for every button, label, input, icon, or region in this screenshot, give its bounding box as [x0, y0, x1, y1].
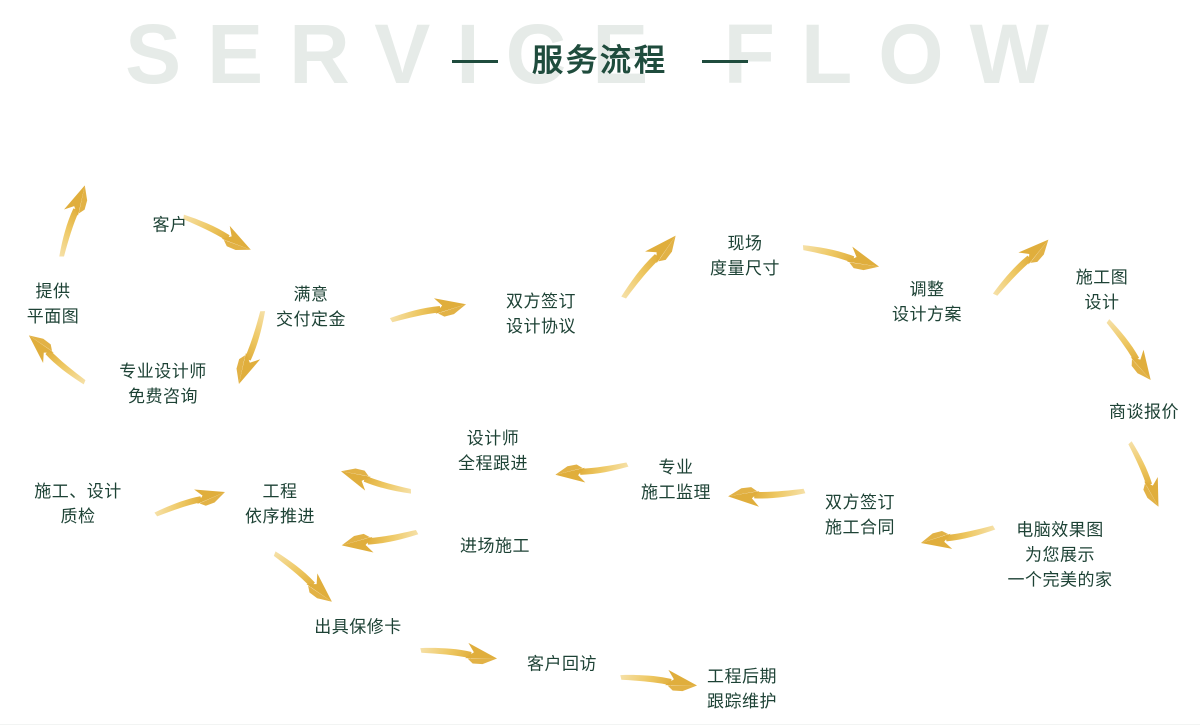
flow-node-line: 专业设计师	[119, 360, 207, 385]
flow-arrow-a16	[153, 480, 227, 527]
flow-node-n12: 专业施工监理	[641, 456, 711, 506]
flow-node-line: 设计方案	[892, 303, 962, 328]
flow-node-n15: 工程依序推进	[245, 480, 315, 530]
flow-node-n19: 工程后期跟踪维护	[707, 665, 777, 715]
flow-node-n02: 满意交付定金	[276, 283, 346, 333]
flow-node-line: 工程后期	[707, 665, 777, 690]
flow-node-line: 出具保修卡	[314, 616, 402, 641]
flow-arrow-a18	[414, 617, 503, 693]
flow-node-line: 进场施工	[460, 535, 530, 560]
page-header: SERVICE FLOW 服务流程	[0, 0, 1200, 115]
flow-arrow-a10	[1119, 438, 1167, 511]
flow-node-line: 设计协议	[506, 315, 576, 340]
page-title-label: 服务流程	[532, 44, 668, 78]
flow-node-line: 现场	[710, 232, 780, 257]
flow-node-line: 为您展示	[1008, 544, 1113, 569]
flow-node-n16: 施工、设计质检	[34, 480, 122, 530]
flow-node-n18: 客户回访	[527, 653, 597, 678]
flow-arrow-a06	[603, 226, 697, 309]
flow-node-line: 客户	[153, 214, 188, 239]
flow-node-line: 交付定金	[276, 308, 346, 333]
flow-arrow-a13	[552, 439, 632, 498]
flow-node-line: 一个完美的家	[1008, 569, 1113, 594]
flow-arrow-a11	[918, 506, 998, 562]
flow-node-line: 提供	[27, 280, 80, 305]
flow-node-line: 电脑效果图	[1008, 519, 1113, 544]
flow-arrow-a12	[724, 459, 810, 525]
flow-arrow-a08	[978, 230, 1067, 306]
flow-node-line: 设计师	[458, 427, 528, 452]
flow-node-n13: 设计师全程跟进	[458, 427, 528, 477]
flow-node-line: 双方签订	[506, 290, 576, 315]
title-dash-left-icon	[452, 60, 498, 63]
flow-node-line: 满意	[276, 283, 346, 308]
flow-node-line: 跟踪维护	[707, 690, 777, 715]
flow-node-n01: 客户	[153, 214, 188, 239]
flow-arrow-a01	[33, 179, 115, 266]
flow-node-line: 依序推进	[245, 505, 315, 530]
flow-node-n08: 施工图设计	[1076, 266, 1129, 316]
flow-node-n17: 出具保修卡	[314, 616, 402, 641]
flow-node-n07: 调整设计方案	[892, 278, 962, 328]
flow-node-n14: 进场施工	[460, 535, 530, 560]
flow-arrow-a15	[338, 507, 421, 566]
flow-arrow-a05	[387, 284, 469, 341]
flow-node-line: 免费咨询	[119, 385, 207, 410]
flow-node-line: 设计	[1076, 291, 1129, 316]
flow-node-line: 全程跟进	[458, 452, 528, 477]
flow-node-line: 施工、设计	[34, 480, 122, 505]
flow-node-n10: 电脑效果图为您展示一个完美的家	[1008, 519, 1113, 594]
flow-node-n05: 双方签订设计协议	[506, 290, 576, 340]
flow-node-line: 双方签订	[825, 491, 895, 516]
flow-node-line: 商谈报价	[1109, 401, 1179, 426]
flow-node-line: 平面图	[27, 305, 80, 330]
flow-node-line: 施工监理	[641, 481, 711, 506]
flow-node-line: 度量尺寸	[710, 257, 780, 282]
flow-arrow-a19	[614, 644, 703, 720]
flow-node-n04: 提供平面图	[27, 280, 80, 330]
flow-node-line: 工程	[245, 480, 315, 505]
flow-node-line: 调整	[892, 278, 962, 303]
flow-node-n03: 专业设计师免费咨询	[119, 360, 207, 410]
flow-arrow-a17	[264, 534, 341, 621]
flow-node-n11: 双方签订施工合同	[825, 491, 895, 541]
flow-node-line: 专业	[641, 456, 711, 481]
flow-arrow-a09	[1096, 309, 1159, 391]
title-dash-right-icon	[702, 60, 748, 63]
page-title: 服务流程	[0, 44, 1200, 78]
flow-node-line: 施工合同	[825, 516, 895, 541]
flow-arrow-a07	[794, 216, 886, 299]
flow-node-line: 客户回访	[527, 653, 597, 678]
flow-node-line: 施工图	[1076, 266, 1129, 291]
flow-node-n06: 现场度量尺寸	[710, 232, 780, 282]
flow-node-n09: 商谈报价	[1109, 401, 1179, 426]
service-flow-diagram: SERVICE FLOW 服务流程 客户满意交付定金专业设计师免费咨询提供平面图…	[0, 0, 1200, 725]
flow-node-line: 质检	[34, 505, 122, 530]
